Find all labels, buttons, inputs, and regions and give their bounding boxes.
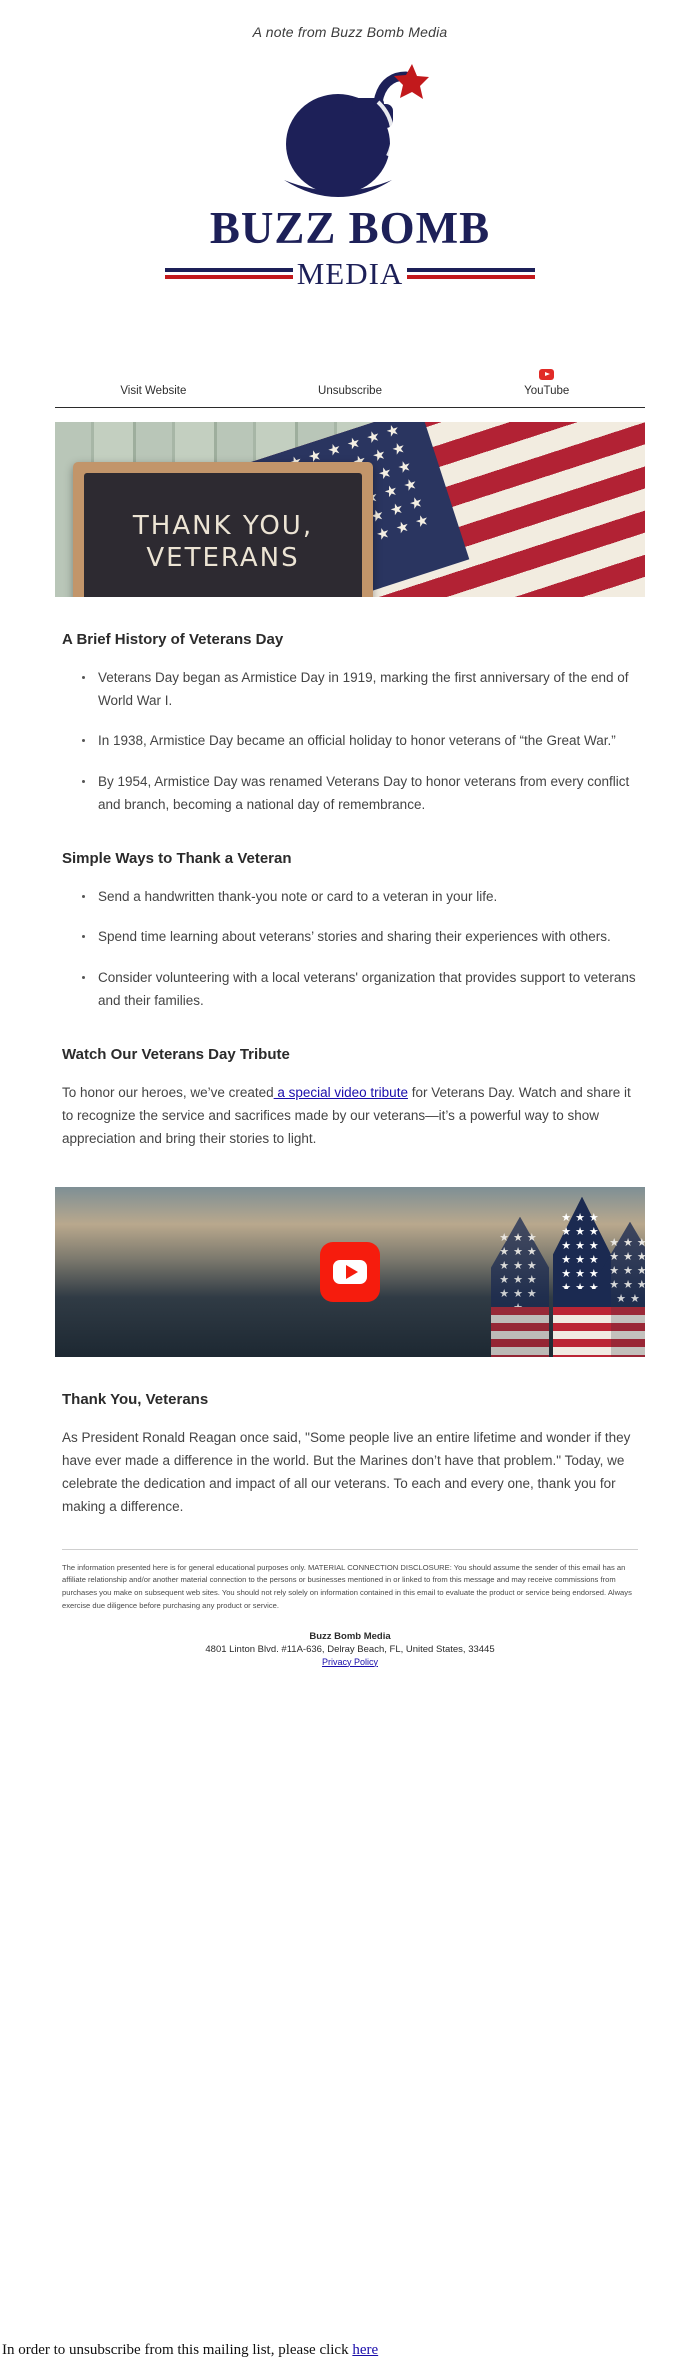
unsubscribe-text: In order to unsubscribe from this mailin… [2,2342,352,2358]
hero-chalkboard: THANK YOU, VETERANS [73,462,373,597]
bomb-icon [260,62,440,202]
logo-rule-left [165,268,293,279]
tribute-text-before: To honor our heroes, we’ve created [62,1085,274,1100]
video-flag-left: ★★★★★★★★★★★★★★★★ [491,1217,549,1357]
video-flag-right: ★★★★★★★★★★★★★★ [601,1222,645,1357]
nav-item-visit-website[interactable]: Visit Website [55,385,252,397]
logo-media-row: MEDIA [165,258,535,289]
section-title-tribute: Watch Our Veterans Day Tribute [62,1046,638,1063]
closing-paragraph: As President Ronald Reagan once said, "S… [62,1426,638,1519]
footer-org-address: 4801 Linton Blvd. #11A-636, Delray Beach… [62,1644,638,1655]
nav-label-visit-website: Visit Website [55,385,252,397]
list-item: By 1954, Armistice Day was renamed Veter… [96,770,638,816]
unsubscribe-bar: In order to unsubscribe from this mailin… [0,2342,700,2359]
section-title-simple-ways: Simple Ways to Thank a Veteran [62,850,638,867]
hero-board-line-1: THANK YOU, [133,510,313,543]
unsubscribe-here-link[interactable]: here [352,2342,378,2358]
email-footer: The information presented here is for ge… [50,1549,650,1668]
list-item: In 1938, Armistice Day became an officia… [96,729,638,752]
bullet-list-simple-ways: Send a handwritten thank-you note or car… [62,885,638,1012]
nav-bar: Visit Website Unsubscribe YouTube [55,369,645,408]
hero-chalkboard-slate: THANK YOU, VETERANS [84,473,362,597]
footer-org-block: Buzz Bomb Media 4801 Linton Blvd. #11A-6… [62,1631,638,1668]
nav-item-unsubscribe[interactable]: Unsubscribe [252,385,449,397]
section-title-history: A Brief History of Veterans Day [62,631,638,648]
video-thumbnail[interactable]: ★★★★★★★★★★★★★★★★ ★★★★★★★★★★★★★★★★★★ ★★★★… [55,1187,645,1357]
section-title-closing: Thank You, Veterans [62,1391,638,1408]
preheader-text: A note from Buzz Bomb Media [0,0,700,40]
nav-item-youtube[interactable]: YouTube [448,369,645,397]
youtube-play-icon[interactable] [320,1242,380,1302]
hero-image: ★★★★★★★★★★★★★★★★★★★★★★★★★★★★★★★★★★★★★★★★… [55,422,645,597]
brand-logo: BUZZ BOMB MEDIA [0,40,700,289]
youtube-icon[interactable] [539,369,554,380]
special-video-tribute-link[interactable]: a special video tribute [274,1085,408,1100]
nav-label-unsubscribe: Unsubscribe [252,385,449,397]
logo-rule-right [407,268,535,279]
footer-org-name: Buzz Bomb Media [62,1631,638,1642]
nav-label-youtube: YouTube [448,385,645,397]
footer-divider [62,1549,638,1550]
logo-wordmark-bottom: MEDIA [293,258,408,289]
closing-block: Thank You, Veterans As President Ronald … [50,1391,650,1519]
logo-wordmark-top: BUZZ BOMB [210,206,490,251]
privacy-policy-link[interactable]: Privacy Policy [322,1657,378,1667]
tribute-paragraph: To honor our heroes, we’ve created a spe… [62,1081,638,1151]
list-item: Veterans Day began as Armistice Day in 1… [96,666,638,712]
email-body: A Brief History of Veterans Day Veterans… [50,631,650,1151]
list-item: Spend time learning about veterans’ stor… [96,925,638,948]
list-item: Consider volunteering with a local veter… [96,966,638,1012]
list-item: Send a handwritten thank-you note or car… [96,885,638,908]
footer-disclaimer: The information presented here is for ge… [62,1562,638,1613]
bullet-list-history: Veterans Day began as Armistice Day in 1… [62,666,638,816]
hero-board-line-2: VETERANS [146,542,299,575]
